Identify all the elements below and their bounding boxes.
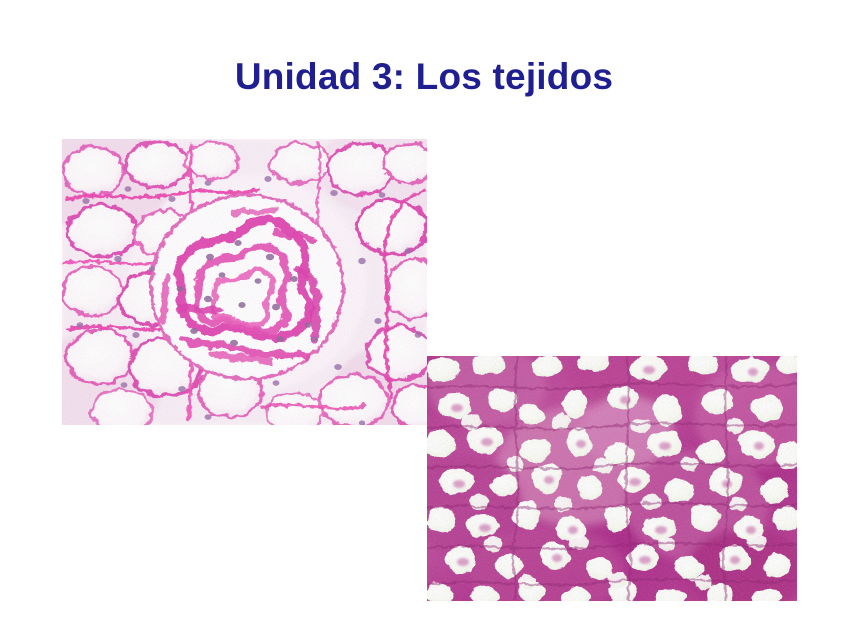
histology-image-glomerulus[interactable] (62, 139, 427, 425)
presentation-slide: Unidad 3: Los tejidos (0, 0, 848, 635)
slide-title: Unidad 3: Los tejidos (0, 56, 848, 98)
cartilage-canvas (427, 356, 797, 601)
histology-image-cartilage[interactable] (427, 356, 797, 601)
glomerulus-canvas (62, 139, 427, 425)
